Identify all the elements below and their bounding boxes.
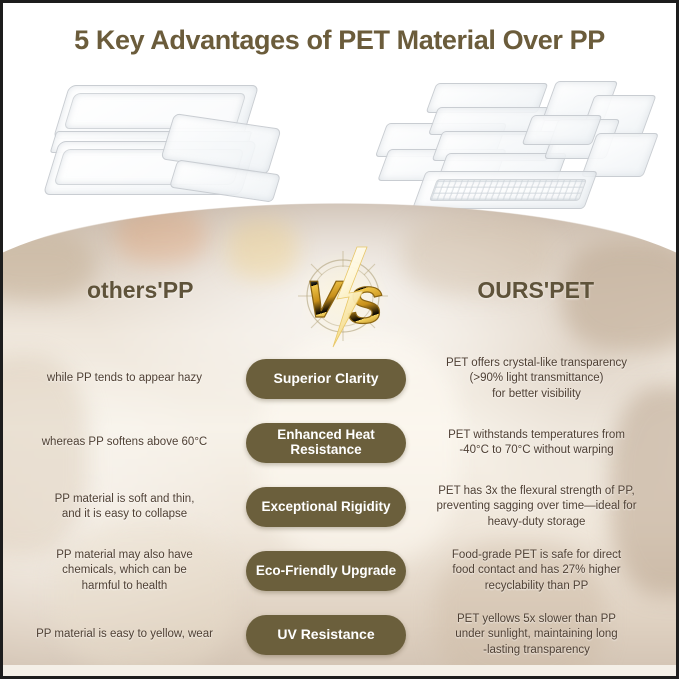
product-image-pet-organizers [381, 79, 656, 209]
text-line: recyclability than PP [485, 580, 589, 592]
feature-pill-exceptional-rigidity[interactable]: Exceptional Rigidity [246, 487, 406, 527]
feature-pill-superior-clarity[interactable]: Superior Clarity [246, 359, 406, 399]
pet-benefit-text: PET has 3x the flexural strength of PP, … [415, 484, 658, 530]
pp-drawback-text: PP material is soft and thin, and it is … [3, 492, 246, 522]
column-header-others-pp: others'PP [87, 277, 193, 304]
page-title: 5 Key Advantages of PET Material Over PP [3, 25, 676, 56]
text-line: harmful to health [82, 580, 168, 592]
pet-benefit-text: PET yellows 5x slower than PP under sunl… [415, 612, 658, 658]
pp-drawback-text: PP material may also have chemicals, whi… [3, 548, 246, 594]
text-line: for better visibility [492, 388, 581, 400]
vs-badge-icon: V S [279, 241, 407, 353]
text-line: under sunlight, maintaining long [455, 628, 617, 640]
svg-text:V: V [306, 271, 345, 329]
text-line: preventing sagging over time—ideal for [436, 500, 636, 512]
pp-drawback-text: whereas PP softens above 60°C [3, 435, 246, 450]
pill-label: Exceptional Rigidity [261, 500, 390, 515]
feature-pill-enhanced-heat-resistance[interactable]: Enhanced Heat Resistance [246, 423, 406, 463]
pp-drawback-text: while PP tends to appear hazy [3, 371, 246, 386]
text-line: PET offers crystal-like transparency [446, 357, 627, 369]
comparison-row: PP material may also have chemicals, whi… [3, 539, 676, 603]
text-line: PET yellows 5x slower than PP [457, 613, 616, 625]
pet-benefit-text: PET offers crystal-like transparency (>9… [415, 356, 658, 402]
text-line: whereas PP softens above 60°C [42, 436, 208, 448]
pill-label: Eco-Friendly Upgrade [256, 564, 396, 579]
comparison-row: PP material is easy to yellow, wear UV R… [3, 603, 676, 667]
vs-badge: V S [279, 241, 407, 353]
text-line: PP material is soft and thin, [55, 493, 195, 505]
text-line: -lasting transparency [483, 644, 590, 656]
text-line: Food-grade PET is safe for direct [452, 549, 621, 561]
pet-benefit-text: PET withstands temperatures from -40°C t… [415, 428, 658, 458]
text-line: PP material is easy to yellow, wear [36, 628, 213, 640]
text-line: (>90% light transmittance) [470, 372, 604, 384]
comparison-row: PP material is soft and thin, and it is … [3, 475, 676, 539]
column-header-ours-pet: OURS'PET [477, 277, 594, 304]
text-line: chemicals, which can be [62, 564, 187, 576]
text-line: PET withstands temperatures from [448, 429, 625, 441]
pet-benefit-text: Food-grade PET is safe for direct food c… [415, 548, 658, 594]
comparison-row: while PP tends to appear hazy Superior C… [3, 347, 676, 411]
comparison-rows: while PP tends to appear hazy Superior C… [3, 347, 676, 667]
text-line: food contact and has 27% higher [452, 564, 620, 576]
bottom-edge-strip [3, 665, 676, 676]
text-line: PP material may also have [56, 549, 193, 561]
text-line: and it is easy to collapse [62, 508, 187, 520]
text-line: PET has 3x the flexural strength of PP, [438, 485, 634, 497]
pp-drawback-text: PP material is easy to yellow, wear [3, 627, 246, 642]
text-line: while PP tends to appear hazy [47, 372, 202, 384]
product-image-pp-containers [45, 81, 295, 206]
pill-label: Enhanced Heat Resistance [254, 428, 398, 457]
comparison-row: whereas PP softens above 60°C Enhanced H… [3, 411, 676, 475]
infographic-canvas: 5 Key Advantages of PET Material Over PP [0, 0, 679, 679]
feature-pill-eco-friendly-upgrade[interactable]: Eco-Friendly Upgrade [246, 551, 406, 591]
feature-pill-uv-resistance[interactable]: UV Resistance [246, 615, 406, 655]
text-line: heavy-duty storage [488, 516, 586, 528]
text-line: -40°C to 70°C without warping [459, 444, 613, 456]
